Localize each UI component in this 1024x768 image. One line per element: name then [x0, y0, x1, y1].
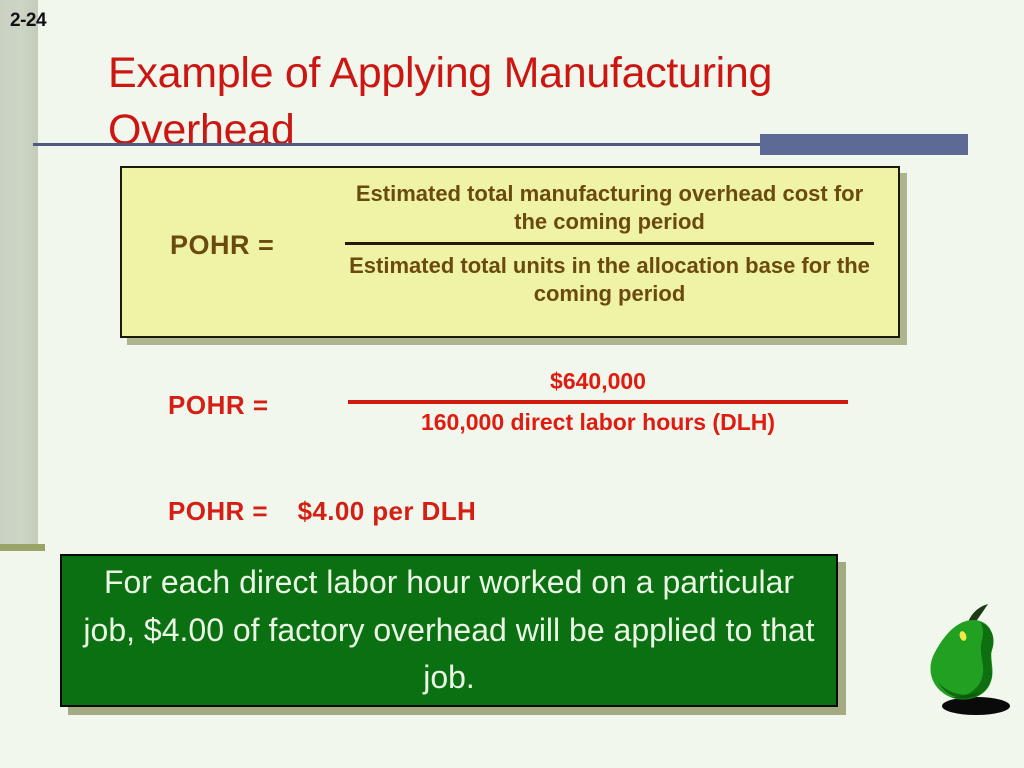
callout-box: For each direct labor hour worked on a p…	[60, 554, 838, 707]
pohr-definition-fraction: Estimated total manufacturing overhead c…	[337, 180, 882, 309]
pohr-definition-label: POHR =	[170, 230, 274, 261]
pohr-numeric-fraction: $640,000 160,000 direct labor hours (DLH…	[348, 368, 848, 436]
pohr-numeric-numerator: $640,000	[348, 368, 848, 398]
pohr-result-label: POHR =	[168, 496, 268, 526]
pohr-definition-box: POHR = Estimated total manufacturing ove…	[120, 166, 900, 338]
pohr-definition-inner: POHR = Estimated total manufacturing ove…	[122, 168, 898, 336]
callout-text: For each direct labor hour worked on a p…	[62, 559, 836, 701]
slide-canvas: 2-24 Example of Applying Manufacturing O…	[0, 0, 1024, 768]
sidebar-shadow	[0, 544, 45, 551]
pohr-definition-numerator: Estimated total manufacturing overhead c…	[337, 180, 882, 240]
title-accent-bar	[760, 134, 968, 155]
pohr-numeric-denominator: 160,000 direct labor hours (DLH)	[348, 409, 848, 436]
left-accent-sidebar	[0, 0, 38, 544]
pohr-result-line: POHR = $4.00 per DLH	[168, 496, 476, 527]
pohr-definition-denominator: Estimated total units in the allocation …	[337, 252, 882, 308]
title-divider-rule	[33, 143, 768, 146]
pohr-result-value: $4.00 per DLH	[298, 496, 477, 526]
pohr-numeric-fraction-bar	[348, 400, 848, 404]
pohr-definition-fraction-bar	[345, 242, 874, 245]
pohr-numeric-label: POHR =	[168, 390, 269, 421]
pear-icon	[918, 598, 1018, 723]
slide-number: 2-24	[10, 10, 46, 32]
